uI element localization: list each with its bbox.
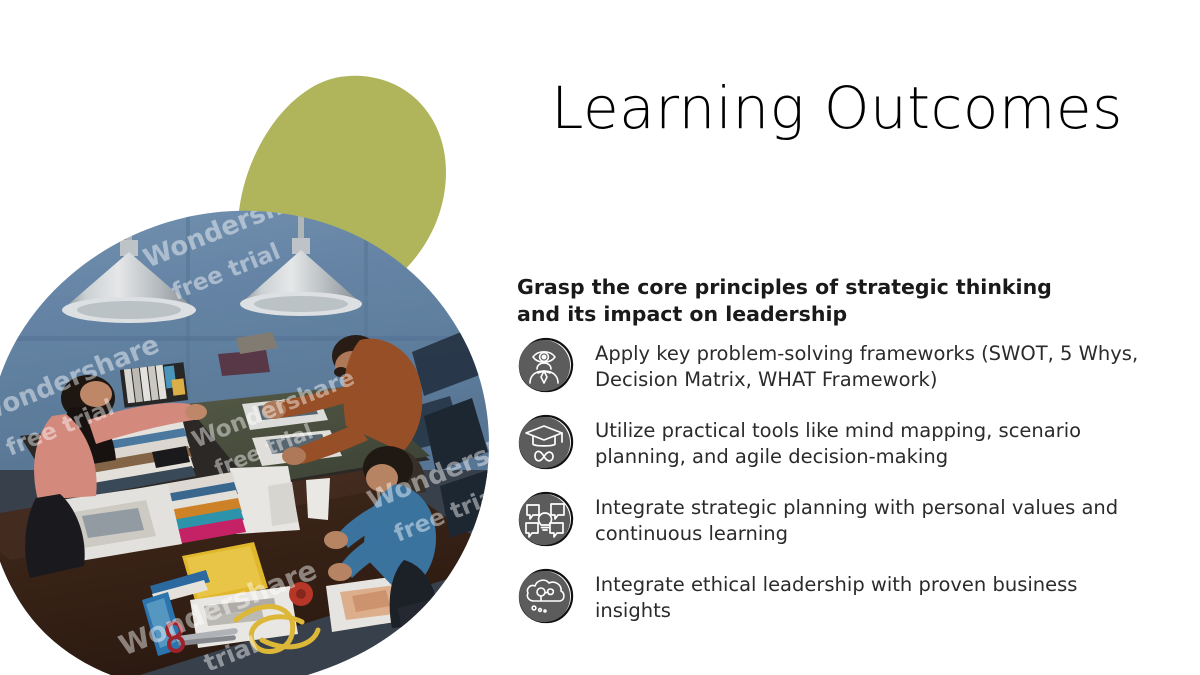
person-vision-icon (517, 336, 575, 394)
list-item[interactable]: Apply key problem-solving frameworks (SW… (517, 334, 1157, 396)
color-fan (142, 570, 210, 656)
svg-text:trial: trial (200, 631, 262, 675)
page-title: Learning Outcomes (517, 72, 1157, 144)
scissors (167, 623, 238, 651)
svg-text:free trial: free trial (3, 395, 119, 462)
lead-statement: Grasp the core principles of strategic t… (517, 274, 1087, 328)
content-column: Learning Outcomes Grasp the core princip… (517, 0, 1157, 675)
measuring-tape (236, 606, 318, 651)
svg-text:Wondershare: Wondershare (114, 553, 321, 662)
list-item-label: Integrate strategic planning with person… (595, 488, 1140, 547)
fabric-swatches-2 (118, 472, 246, 552)
person-top-right (262, 335, 426, 498)
svg-text:free trial: free trial (211, 419, 317, 480)
fabric-swatches (66, 418, 196, 498)
slide-canvas: Wondershare free trial Wondershare free … (0, 0, 1200, 675)
person-left (25, 375, 207, 578)
list-item-label: Integrate ethical leadership with proven… (595, 565, 1140, 624)
person-bottom-right (324, 446, 438, 628)
thought-cloud-idea-icon (517, 567, 575, 625)
list-item[interactable]: Integrate ethical leadership with proven… (517, 565, 1157, 627)
olive-blob-shape (237, 76, 446, 314)
learning-outcomes-list: Apply key problem-solving frameworks (SW… (517, 334, 1157, 627)
svg-text:Wondershare: Wondershare (139, 174, 331, 275)
lightbulb-network-icon (517, 490, 575, 548)
pendant-lamp (62, 200, 196, 323)
list-item-label: Utilize practical tools like mind mappin… (595, 411, 1140, 470)
graduation-infinity-icon (517, 413, 575, 471)
list-item[interactable]: Integrate strategic planning with person… (517, 488, 1157, 550)
svg-text:free trial: free trial (391, 481, 507, 548)
photo-watermark: Wondershare free trial Wondershare free … (0, 174, 556, 675)
pendant-lamp (240, 196, 362, 316)
svg-text:Wondershare: Wondershare (0, 330, 164, 431)
svg-text:free trial: free trial (169, 239, 285, 306)
svg-text:Wondershare: Wondershare (189, 365, 359, 454)
list-item-label: Apply key problem-solving frameworks (SW… (595, 334, 1140, 393)
team-collaboration-photo (0, 180, 560, 675)
list-item[interactable]: Utilize practical tools like mind mappin… (517, 411, 1157, 473)
